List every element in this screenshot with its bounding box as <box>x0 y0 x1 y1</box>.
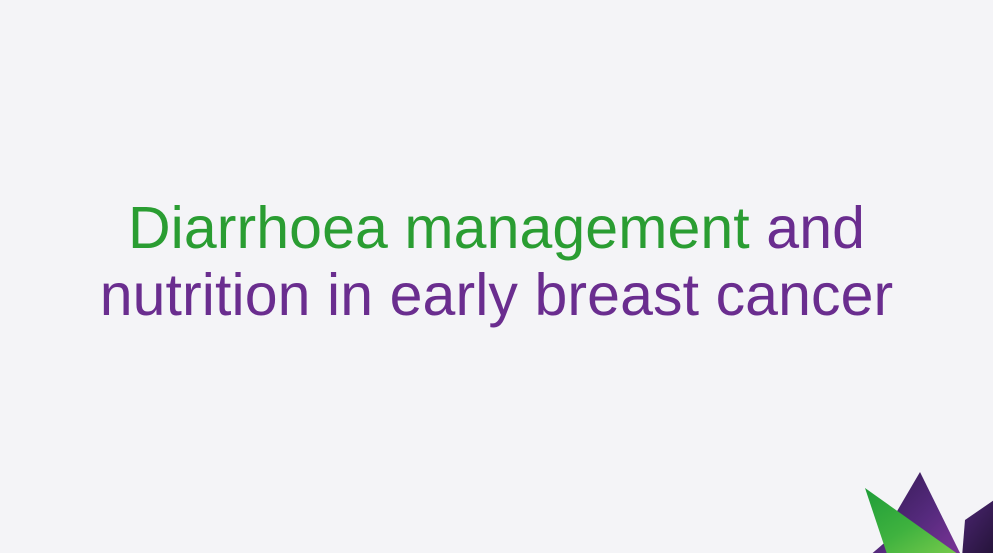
title-segment-green: Diarrhoea management <box>128 195 750 261</box>
title-segment-purple-line2: nutrition in early breast cancer <box>100 262 894 328</box>
crown-logo <box>858 462 993 553</box>
title-segment-space <box>750 195 767 261</box>
page-title: Diarrhoea management and nutrition in ea… <box>0 196 993 328</box>
title-line-1: Diarrhoea management and <box>0 196 993 260</box>
slide-canvas: Diarrhoea management and nutrition in ea… <box>0 0 993 553</box>
crown-logo-icon <box>858 462 993 553</box>
title-line-2: nutrition in early breast cancer <box>0 263 993 327</box>
crown-wing-right <box>962 498 993 553</box>
title-segment-purple-and: and <box>766 195 865 261</box>
